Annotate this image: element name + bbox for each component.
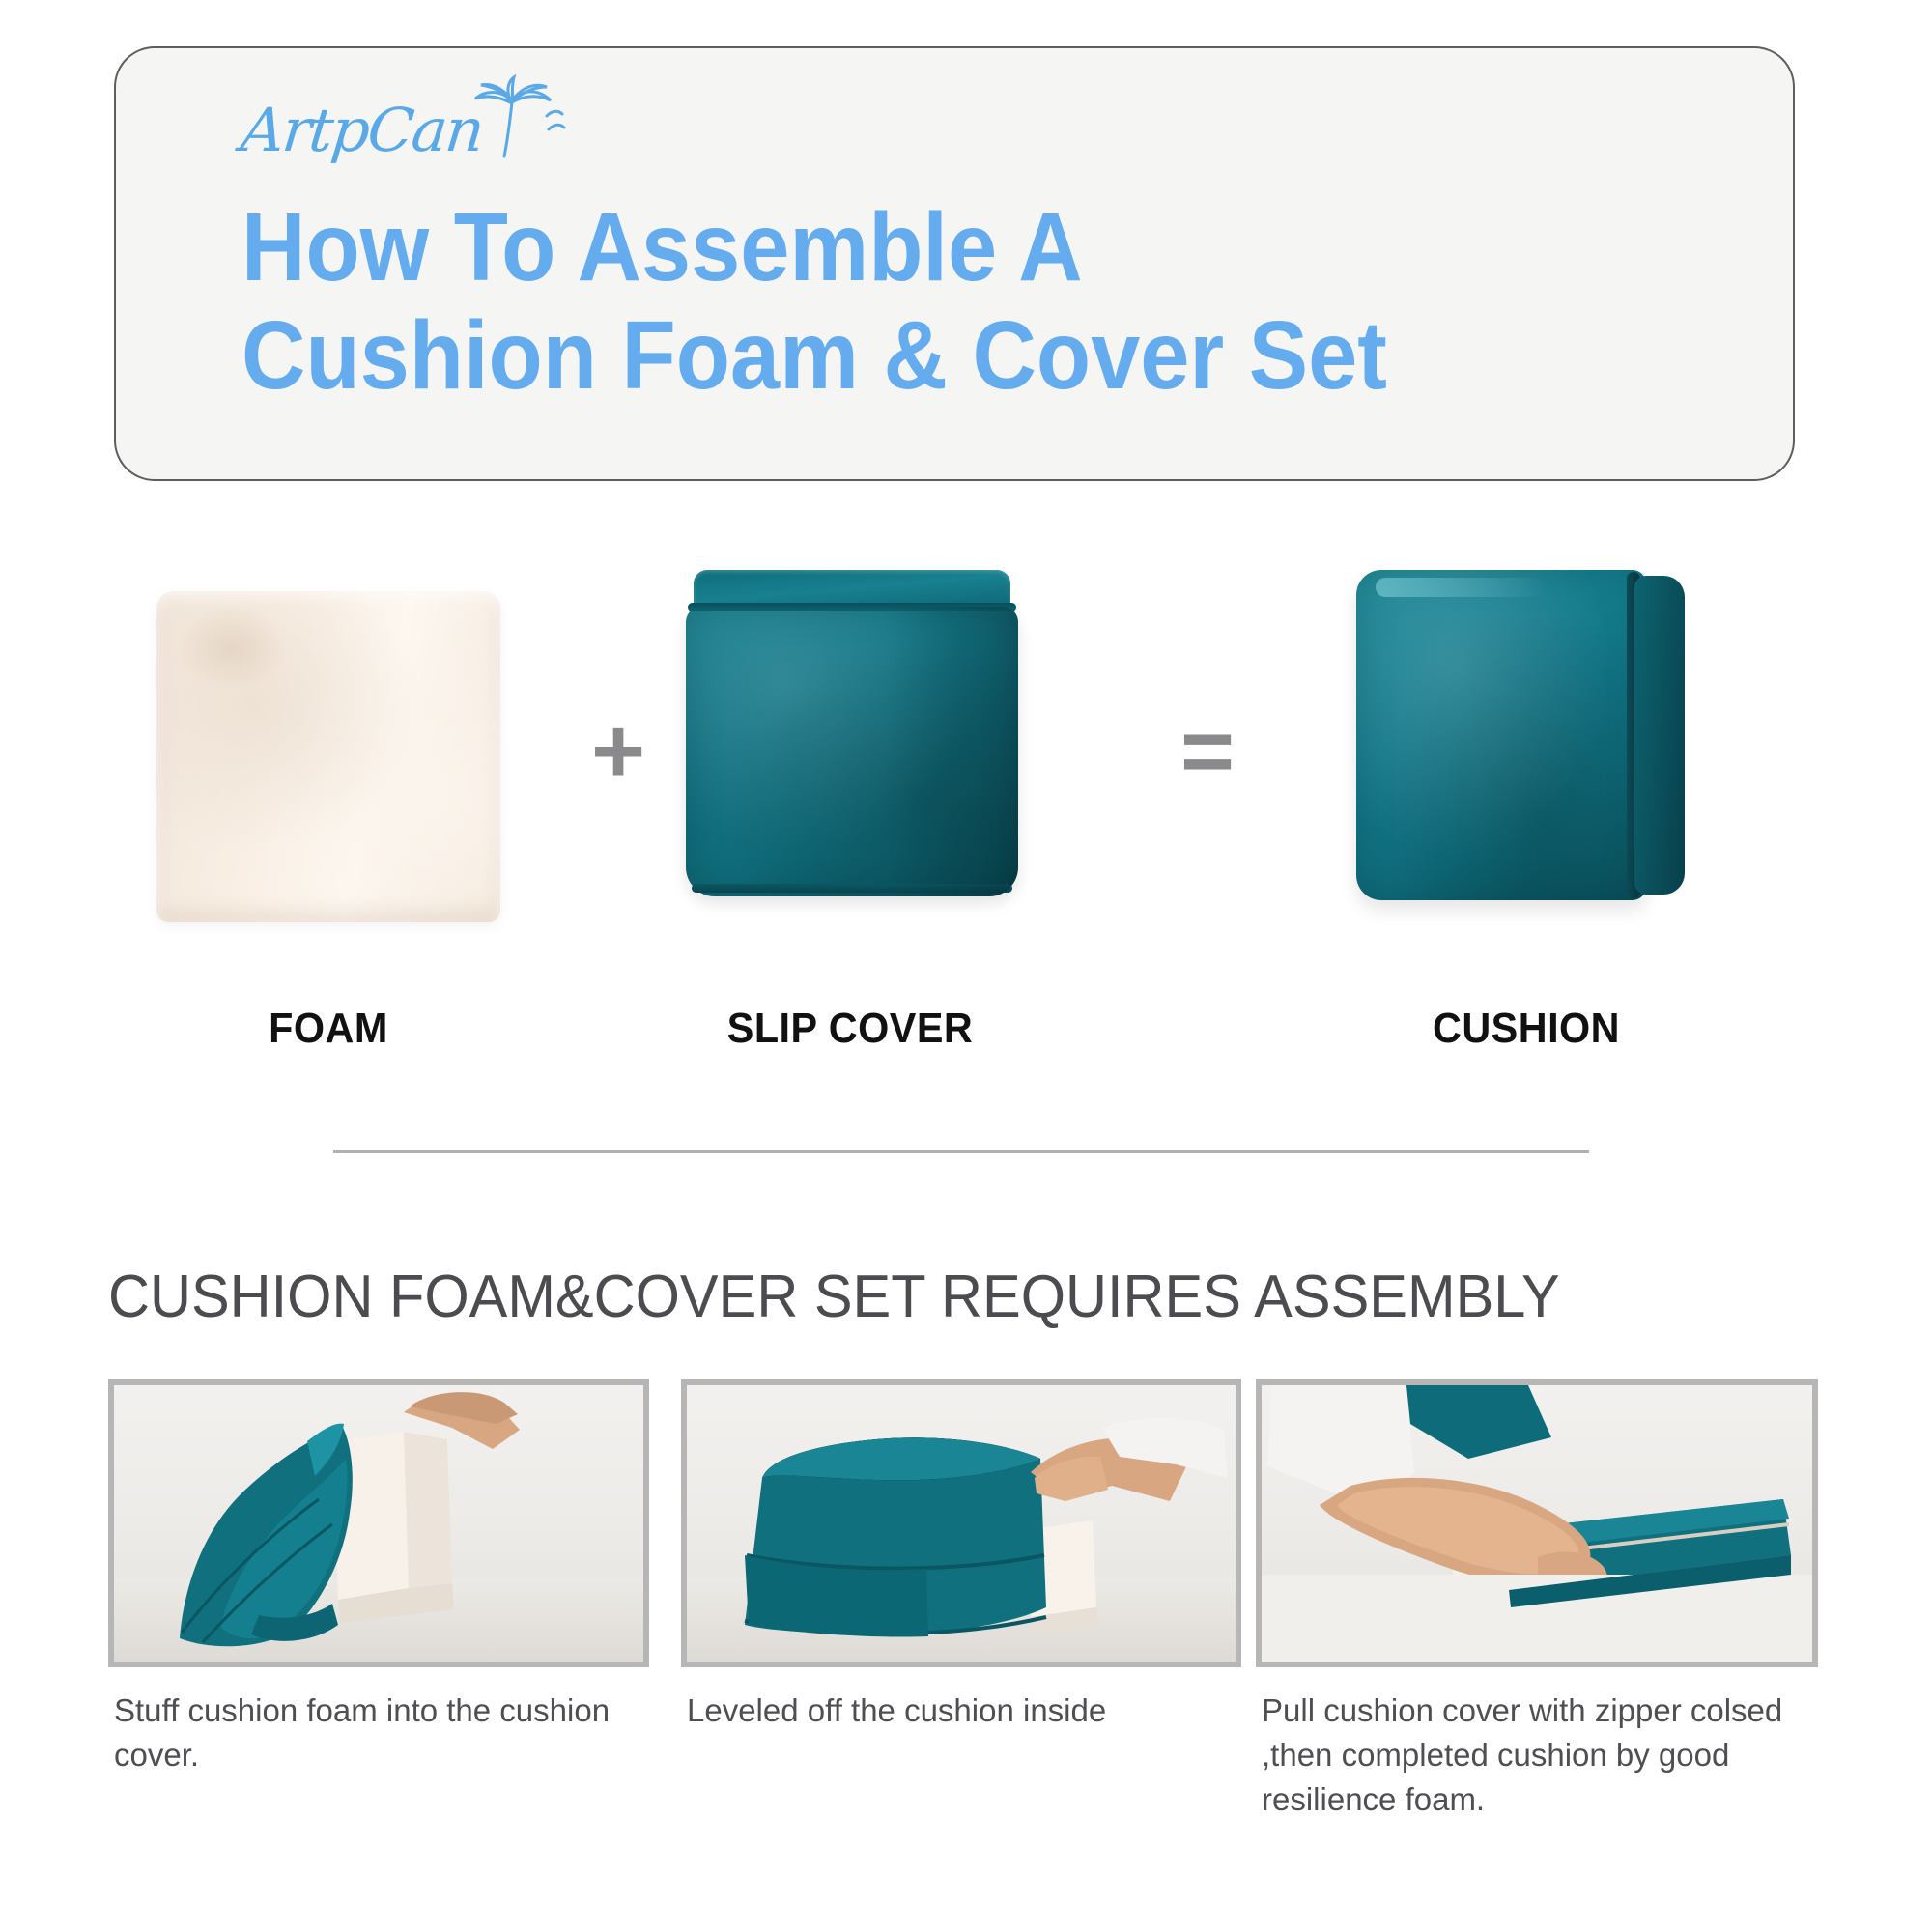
step-2-photo [681, 1379, 1241, 1667]
section-divider [333, 1150, 1589, 1153]
title-line-1: How To Assemble A [241, 193, 1628, 301]
brand-logo: ArtpCan [241, 95, 647, 191]
finished-cushion-icon [1352, 562, 1690, 918]
foam-block-icon [156, 591, 500, 922]
assembly-steps: Stuff cushion foam into the cushion cove… [0, 1379, 1932, 1862]
header-card: ArtpCan How To Assemble A Cushion Foam &… [114, 46, 1795, 481]
cushion-label: CUSHION [1363, 1005, 1690, 1053]
assembly-step-3: Pull cushion cover with zipper colsed ,t… [1256, 1379, 1818, 1667]
brand-logo-text: ArtpCan [238, 95, 486, 165]
slip-cover-label: SLIP COVER [687, 1005, 1013, 1053]
step-3-caption: Pull cushion cover with zipper colsed ,t… [1262, 1689, 1824, 1822]
slip-cover-shading [686, 607, 1018, 896]
infographic-page: ArtpCan How To Assemble A Cushion Foam &… [0, 0, 1932, 1932]
title-line-2: Cushion Foam & Cover Set [241, 301, 1628, 410]
step-1-photo [108, 1379, 649, 1667]
step-3-photo [1256, 1379, 1818, 1667]
assembly-step-1: Stuff cushion foam into the cushion cove… [108, 1379, 649, 1667]
operator-equals-slot: = [1140, 551, 1275, 956]
step-2-illustration [687, 1385, 1236, 1662]
plus-icon: + [551, 705, 686, 798]
cushion-front-face [1356, 570, 1646, 900]
product-equation-row: FOAM + SLIP COVER = [0, 551, 1932, 956]
equation-item-cushion: CUSHION [1352, 551, 1700, 956]
step-3-illustration [1262, 1385, 1812, 1662]
cushion-highlight [1376, 578, 1588, 597]
equation-item-slip-cover: SLIP COVER [676, 551, 1024, 956]
cushion-side-face [1634, 576, 1685, 895]
page-title: How To Assemble A Cushion Foam & Cover S… [241, 193, 1748, 410]
equation-item-foam: FOAM [135, 551, 522, 956]
equals-icon: = [1140, 705, 1275, 798]
palm-tree-icon [456, 73, 572, 166]
assembly-heading: CUSHION FOAM&COVER SET REQUIRES ASSEMBLY [108, 1263, 1560, 1331]
assembly-step-2: Leveled off the cushion inside [681, 1379, 1241, 1667]
step-1-caption: Stuff cushion foam into the cushion cove… [114, 1689, 655, 1777]
operator-plus-slot: + [551, 551, 686, 956]
step-2-caption: Leveled off the cushion inside [687, 1689, 1247, 1733]
step-1-illustration [114, 1385, 643, 1662]
slip-cover-icon [686, 570, 1018, 908]
foam-label: FOAM [147, 1005, 510, 1053]
